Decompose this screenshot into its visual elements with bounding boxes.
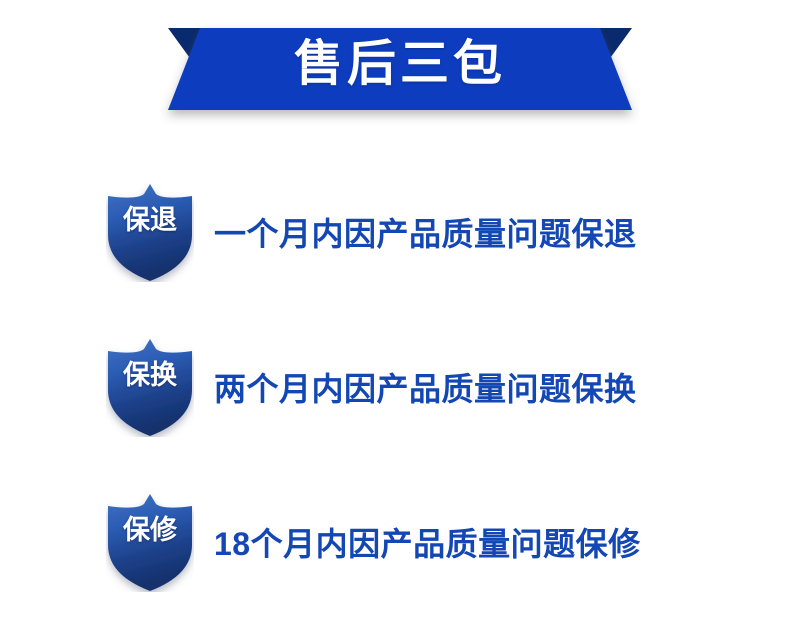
banner: 售后三包 [0,0,800,135]
guarantee-row-repair: 保修 18个月内因产品质量问题保修 [0,460,800,615]
shield-badge-label: 保退 [106,203,194,237]
page-title: 售后三包 [0,33,800,95]
shield-badge-exchange: 保换 [106,338,194,437]
shield-badge-label: 保修 [106,513,194,547]
guarantee-description: 18个月内因产品质量问题保修 [214,524,641,564]
guarantee-row-return: 保退 一个月内因产品质量问题保退 [0,150,800,305]
guarantee-list: 保退 一个月内因产品质量问题保退 保换 [0,150,800,615]
guarantee-description: 一个月内因产品质量问题保退 [214,214,637,254]
guarantee-description: 两个月内因产品质量问题保换 [214,369,637,409]
guarantee-row-exchange: 保换 两个月内因产品质量问题保换 [0,305,800,460]
shield-badge-label: 保换 [106,358,194,392]
shield-badge-return: 保退 [106,183,194,282]
shield-badge-repair: 保修 [106,493,194,592]
